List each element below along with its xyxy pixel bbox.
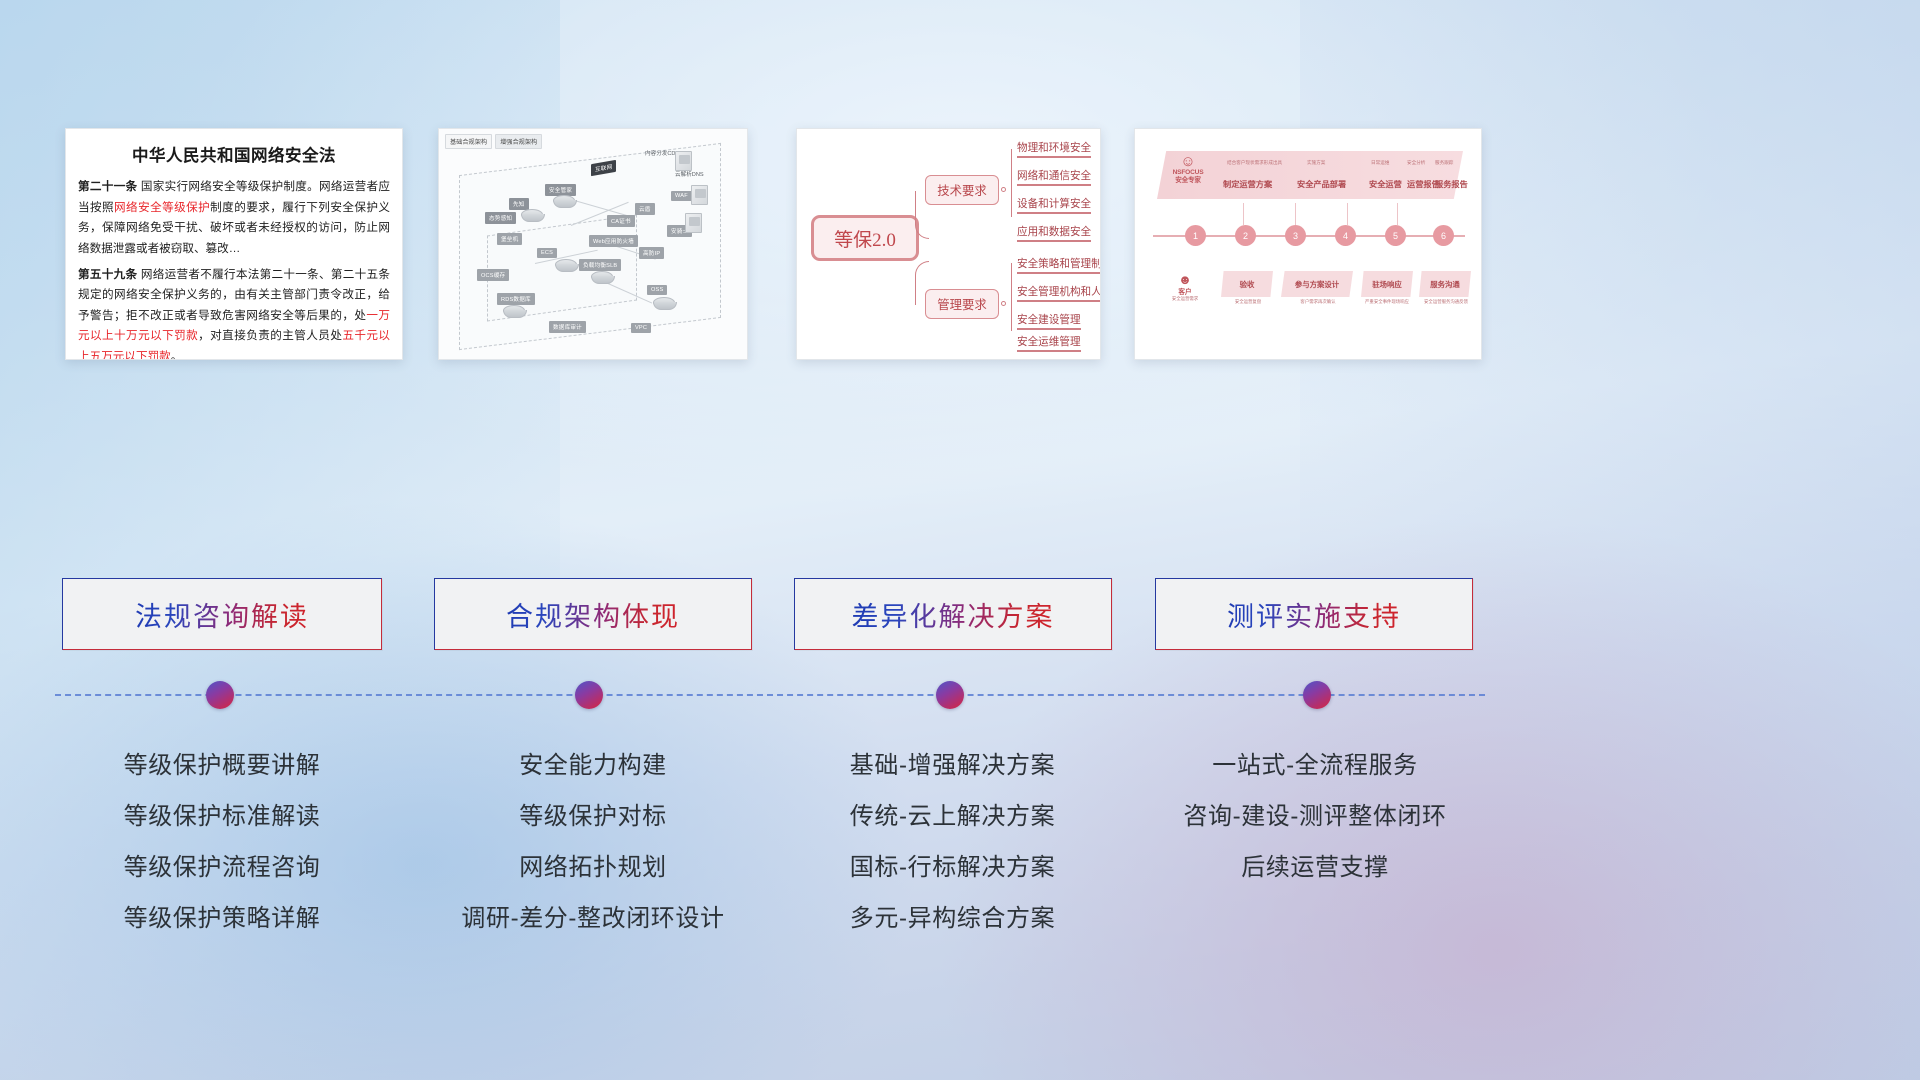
nsfocus-step-number: 4 <box>1335 225 1356 246</box>
mindmap-leaf: 网络和通信安全 <box>1017 171 1091 186</box>
nsfocus-customer-label: 客户 <box>1165 286 1205 296</box>
nsfocus-step-caption: 日常运维 <box>1371 160 1389 166</box>
list-item: 等级保护流程咨询 <box>52 842 392 893</box>
timeline-node-4[interactable] <box>1303 681 1331 709</box>
list-item: 咨询-建设-测评整体闭环 <box>1140 791 1490 842</box>
nsfocus-ribbon-caption: 安全运营服务沟通反馈 <box>1415 299 1477 305</box>
node-xianzhi: 先知 <box>509 198 529 210</box>
list-item: 国标-行标解决方案 <box>780 842 1125 893</box>
nsfocus-step-caption: 结合客户现状需求形成出具 <box>1227 160 1282 166</box>
nsfocus-step-number: 1 <box>1185 225 1206 246</box>
nsfocus-ribbon: 驻场响应 <box>1361 271 1413 297</box>
category-label: 法规咨询解读 <box>135 595 309 634</box>
mindmap-collapse-dot[interactable] <box>1001 187 1006 192</box>
mindmap-root-node: 等保2.0 <box>811 215 919 261</box>
nsfocus-step-label: 安全运营 <box>1369 178 1402 190</box>
nsfocus-expert-badge: ☺ NSFOCUS 安全专家 <box>1167 155 1209 185</box>
law-text: ，对直接负责的主管人员处 <box>198 329 342 342</box>
disk-icon <box>653 297 675 308</box>
nsfocus-step-label: 制定运营方案 <box>1223 178 1272 190</box>
architecture-tabs: 基础合规架构 增强合规架构 <box>445 134 542 149</box>
node-web-firewall: Web应用防火墙 <box>589 235 638 247</box>
mindmap-leaf: 安全运维管理 <box>1017 337 1081 352</box>
list-item: 安全能力构建 <box>418 740 768 791</box>
tab-enhanced-architecture[interactable]: 增强合规架构 <box>495 134 542 149</box>
disk-icon <box>555 259 577 270</box>
nsfocus-ribbon-caption: 严重安全事件现场响应 <box>1357 299 1417 305</box>
timeline-node-3[interactable] <box>936 681 964 709</box>
nsfocus-customer-sub: 安全运营需求 <box>1165 296 1205 302</box>
node-vpc: VPC <box>631 323 651 333</box>
nsfocus-tick <box>1347 203 1348 225</box>
nsfocus-customer-badge: ☻ 客户 安全运营需求 <box>1165 273 1205 302</box>
law-article-21: 第二十一条 国家实行网络安全等级保护制度。网络运营者应当按照网络安全等级保护制度… <box>78 177 390 260</box>
customer-icon: ☻ <box>1165 273 1205 286</box>
tab-basic-architecture[interactable]: 基础合规架构 <box>445 134 492 149</box>
list-item: 网络拓扑规划 <box>418 842 768 893</box>
list-item: 等级保护概要讲解 <box>52 740 392 791</box>
law-article-label: 第二十一条 <box>78 180 137 193</box>
nsfocus-brand: NSFOCUS <box>1167 169 1209 177</box>
nsfocus-brand-sub: 安全专家 <box>1167 177 1209 185</box>
node-bastion-host: 堡垒机 <box>497 233 522 245</box>
nsfocus-step-caption: 服务跟踪 <box>1435 160 1453 166</box>
disk-icon <box>553 195 575 206</box>
detail-list-evaluation-support: 一站式-全流程服务 咨询-建设-测评整体闭环 后续运营支撑 <box>1140 740 1490 893</box>
disk-icon <box>521 209 543 220</box>
nsfocus-ribbon-caption: 安全运营复盘 <box>1219 299 1277 305</box>
mindmap-leaf: 安全策略和管理制度 <box>1017 259 1101 274</box>
mindmap-leaf: 物理和环境安全 <box>1017 143 1091 158</box>
list-item: 等级保护对标 <box>418 791 768 842</box>
timeline-dashed-line <box>55 694 1485 696</box>
category-box-differentiated-solution[interactable]: 差异化解决方案 <box>794 578 1112 650</box>
node-slb: 负载均衡SLB <box>579 259 621 271</box>
nsfocus-step-label: 安全产品部署 <box>1297 178 1346 190</box>
mindmap-spine <box>1011 263 1012 331</box>
nsfocus-ribbon: 服务沟通 <box>1419 271 1471 297</box>
server-icon <box>685 213 702 233</box>
disk-icon <box>591 271 613 282</box>
timeline-node-1[interactable] <box>206 681 234 709</box>
nsfocus-step-number: 3 <box>1285 225 1306 246</box>
nsfocus-step-number: 6 <box>1433 225 1454 246</box>
law-title: 中华人民共和国网络安全法 <box>66 142 402 166</box>
thumbnail-row: 中华人民共和国网络安全法 第二十一条 国家实行网络安全等级保护制度。网络运营者应… <box>0 128 1920 360</box>
node-db-audit: 数据库审计 <box>549 321 586 333</box>
category-label: 测评实施支持 <box>1227 595 1401 634</box>
list-item: 基础-增强解决方案 <box>780 740 1125 791</box>
thumbnail-cloud-architecture[interactable]: 基础合规架构 增强合规架构 互联网 安全管家 先知 态势感知 堡垒机 云盾 WA… <box>438 128 748 360</box>
nsfocus-diagram: ☺ NSFOCUS 安全专家 结合客户现状需求形成出具 制定运营方案 实施方案 … <box>1135 129 1481 359</box>
nsfocus-step-number: 5 <box>1385 225 1406 246</box>
law-text-highlight: 网络安全等级保护 <box>114 201 210 214</box>
nsfocus-ribbon: 参与方案设计 <box>1281 271 1353 297</box>
list-item: 等级保护策略详解 <box>52 893 392 944</box>
person-star-icon: ☺ <box>1167 155 1209 169</box>
list-item: 传统-云上解决方案 <box>780 791 1125 842</box>
list-item: 多元-异构综合方案 <box>780 893 1125 944</box>
thumbnail-mindmap[interactable]: 等保2.0 技术要求 管理要求 物理和环境安全 网络和通信安全 设备和计算安全 … <box>796 128 1101 360</box>
node-cloud-shield: 云盾 <box>635 203 655 215</box>
disk-icon <box>503 305 525 316</box>
detail-list-compliance-architecture: 安全能力构建 等级保护对标 网络拓扑规划 调研-差分-整改闭环设计 <box>418 740 768 944</box>
list-item: 调研-差分-整改闭环设计 <box>418 893 768 944</box>
node-oss: OSS <box>647 285 667 295</box>
list-item: 后续运营支撑 <box>1140 842 1490 893</box>
category-label: 合规架构体现 <box>506 595 680 634</box>
nsfocus-ribbon-caption: 客户需求再次确认 <box>1279 299 1357 305</box>
nsfocus-tick <box>1397 203 1398 225</box>
thumbnail-cybersecurity-law[interactable]: 中华人民共和国网络安全法 第二十一条 国家实行网络安全等级保护制度。网络运营者应… <box>65 128 403 360</box>
mindmap-leaf: 设备和计算安全 <box>1017 199 1091 214</box>
nsfocus-step-number: 2 <box>1235 225 1256 246</box>
law-text: 。 <box>171 350 183 360</box>
mindmap-branch-management: 管理要求 <box>925 289 999 319</box>
category-box-compliance-architecture[interactable]: 合规架构体现 <box>434 578 752 650</box>
server-icon <box>691 185 708 205</box>
node-waf: WAF <box>671 191 692 201</box>
timeline-node-2[interactable] <box>575 681 603 709</box>
category-box-regulation-consulting[interactable]: 法规咨询解读 <box>62 578 382 650</box>
list-item: 等级保护标准解读 <box>52 791 392 842</box>
mindmap-spine <box>1011 149 1012 217</box>
node-ca-certificate: CA证书 <box>607 215 635 227</box>
mindmap-branch-technical: 技术要求 <box>925 175 999 205</box>
nsfocus-step-label: 服务报告 <box>1435 178 1468 190</box>
mindmap: 等保2.0 技术要求 管理要求 物理和环境安全 网络和通信安全 设备和计算安全 … <box>797 129 1100 359</box>
node-rds-database: RDS数据库 <box>497 293 535 305</box>
nsfocus-step-caption: 实施方案 <box>1307 160 1325 166</box>
nsfocus-step-caption: 安全分析 <box>1407 160 1425 166</box>
mindmap-leaf: 安全管理机构和人员 <box>1017 287 1101 302</box>
node-ecs: ECS <box>537 248 557 258</box>
category-label: 差异化解决方案 <box>852 595 1055 634</box>
server-icon <box>675 151 692 171</box>
node-cloud-dns: 云解析DNS <box>675 170 704 178</box>
nsfocus-tick <box>1243 203 1244 225</box>
law-article-59: 第五十九条 网络运营者不履行本法第二十一条、第二十五条规定的网络安全保护义务的，… <box>78 265 390 361</box>
list-item: 一站式-全流程服务 <box>1140 740 1490 791</box>
mindmap-leaf: 安全建设管理 <box>1017 315 1081 330</box>
node-anti-ddos-ip: 高防IP <box>639 247 664 259</box>
thumbnail-nsfocus-timeline[interactable]: ☺ NSFOCUS 安全专家 结合客户现状需求形成出具 制定运营方案 实施方案 … <box>1134 128 1482 360</box>
mindmap-collapse-dot[interactable] <box>1001 301 1006 306</box>
law-body: 第二十一条 国家实行网络安全等级保护制度。网络运营者应当按照网络安全等级保护制度… <box>66 177 402 360</box>
node-situational-awareness: 态势感知 <box>485 212 516 224</box>
category-box-evaluation-support[interactable]: 测评实施支持 <box>1155 578 1473 650</box>
node-ocs-cache: OCS缓存 <box>477 269 509 281</box>
nsfocus-tick <box>1295 203 1296 225</box>
detail-list-regulation-consulting: 等级保护概要讲解 等级保护标准解读 等级保护流程咨询 等级保护策略详解 <box>52 740 392 944</box>
detail-list-differentiated-solution: 基础-增强解决方案 传统-云上解决方案 国标-行标解决方案 多元-异构综合方案 <box>780 740 1125 944</box>
law-article-label: 第五十九条 <box>78 268 137 281</box>
architecture-diagram: 基础合规架构 增强合规架构 互联网 安全管家 先知 态势感知 堡垒机 云盾 WA… <box>439 129 747 359</box>
mindmap-leaf: 应用和数据安全 <box>1017 227 1091 242</box>
nsfocus-ribbon: 验收 <box>1221 271 1273 297</box>
